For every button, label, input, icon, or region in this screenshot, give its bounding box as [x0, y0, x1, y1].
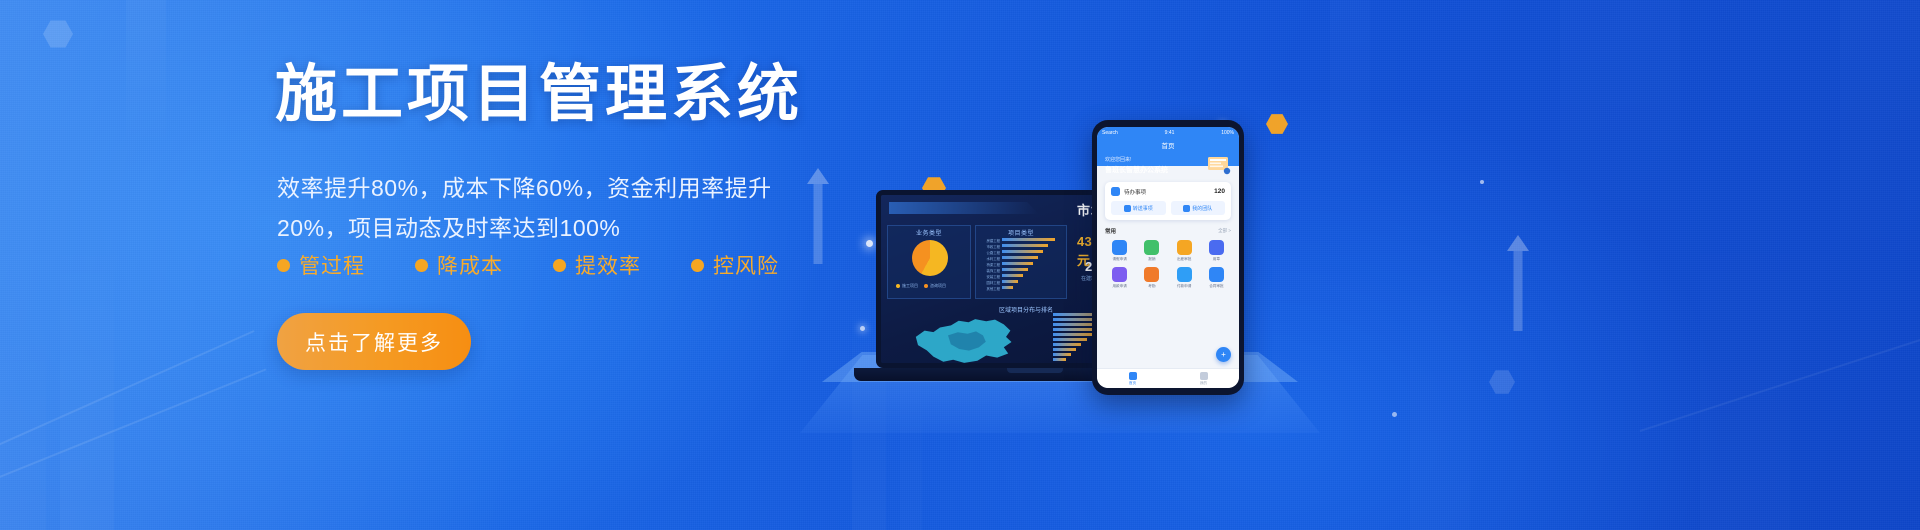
app-label: 报销	[1137, 257, 1166, 262]
app-item-stamp[interactable]: 用章	[1202, 240, 1231, 262]
todo-card-left: 待办事项	[1111, 187, 1146, 196]
phone-tab-bar: 首页 我的	[1097, 368, 1239, 388]
quick-button-group: 转送事项 我的团队	[1111, 201, 1225, 215]
todo-card-label: 待办事项	[1124, 188, 1146, 196]
app-grid-row1: 请假申请 报销 出差审批 用章	[1105, 240, 1231, 262]
plane-icon	[1177, 240, 1192, 255]
my-team-button[interactable]: 我的团队	[1171, 201, 1226, 215]
feature-bullet-label: 提效率	[575, 250, 641, 280]
decor-bar	[60, 230, 114, 530]
phone-mockup: Search 9:41 100% 首页 欢迎您回来! 鲁班长智慧办公系统	[1092, 120, 1244, 395]
plus-icon[interactable]: +	[1216, 347, 1231, 362]
document-icon	[1112, 267, 1127, 282]
quick-button-label: 我的团队	[1192, 205, 1212, 212]
todo-card-count: 120	[1214, 188, 1225, 195]
app-item-travel[interactable]: 出差审批	[1170, 240, 1199, 262]
phone-hero: 欢迎您回来! 鲁班长智慧办公系统	[1097, 151, 1239, 175]
card-icon	[1177, 267, 1192, 282]
promo-banner: 施工项目管理系统 效率提升80%，成本下降60%，资金利用率提升20%，项目动态…	[0, 0, 1920, 530]
phone-nav-title: 首页	[1162, 140, 1175, 150]
app-item-leave[interactable]: 请假申请	[1105, 240, 1134, 262]
phone-screen: Search 9:41 100% 首页 欢迎您回来! 鲁班长智慧办公系统	[1097, 127, 1239, 388]
feature-bullet-label: 管过程	[299, 250, 365, 280]
app-label: 考勤	[1137, 284, 1166, 289]
tab-mine[interactable]: 我的	[1200, 372, 1208, 386]
bullet-dot-icon	[691, 259, 704, 272]
wallet-icon	[1144, 240, 1159, 255]
todo-card[interactable]: 待办事项 120 转送事项 我的团队	[1105, 182, 1231, 220]
feature-bullet: 管过程	[277, 250, 365, 280]
legend-item: 施工项目	[896, 283, 918, 289]
decor-bar	[1410, 230, 1470, 530]
feature-bullet: 提效率	[553, 250, 641, 280]
status-time: 9:41	[1165, 130, 1175, 136]
feature-bullet: 控风险	[691, 250, 779, 280]
arrow-up-icon	[1506, 235, 1530, 331]
bar-chart: 房建工程 市政工程 公路工程 水利工程 桥梁工程 装饰工程 安装工程 园林工程 …	[1002, 238, 1060, 296]
section-more-link[interactable]: 全部 >	[1218, 228, 1231, 234]
contract-icon	[1209, 267, 1224, 282]
tab-label: 首页	[1129, 381, 1137, 386]
app-label: 用章	[1202, 257, 1231, 262]
feature-bullet: 降成本	[415, 250, 503, 280]
tab-home[interactable]: 首页	[1129, 372, 1137, 386]
decor-bar	[126, 0, 166, 150]
banner-subtitle: 效率提升80%，成本下降60%，资金利用率提升20%，项目动态及时率达到100%	[277, 168, 807, 248]
stamp-icon	[1209, 240, 1224, 255]
bullet-dot-icon	[415, 259, 428, 272]
app-item-attendance[interactable]: 考勤	[1137, 267, 1166, 289]
todo-card-row: 待办事项 120	[1111, 187, 1225, 196]
app-item-reimburse[interactable]: 报销	[1137, 240, 1166, 262]
forward-items-button[interactable]: 转送事项	[1111, 201, 1166, 215]
feature-bullet-label: 控风险	[713, 250, 779, 280]
user-icon	[1200, 372, 1208, 380]
pie-panel-title: 业务类型	[888, 228, 970, 237]
clipboard-icon	[1111, 187, 1120, 196]
tab-label: 我的	[1200, 381, 1208, 386]
dashboard-header-accent	[889, 202, 1039, 214]
hero-illustration-icon	[1206, 155, 1232, 175]
bar-chart-panel: 项目类型 房建工程 市政工程 公路工程 水利工程 桥梁工程 装饰工程 安装工程 …	[975, 225, 1067, 299]
app-label: 付款申请	[1170, 284, 1199, 289]
phone-nav-bar: 首页	[1097, 138, 1239, 151]
app-item-payment[interactable]: 付款申请	[1170, 267, 1199, 289]
app-label: 合同审批	[1202, 284, 1231, 289]
feature-bullet-list: 管过程 降成本 提效率 控风险	[277, 250, 779, 280]
status-battery: 100%	[1221, 130, 1234, 136]
page-title: 施工项目管理系统	[275, 60, 803, 130]
app-label: 请假申请	[1105, 257, 1134, 262]
legend-item: 咨询项目	[924, 283, 946, 289]
app-item-fund[interactable]: 用款申请	[1105, 267, 1134, 289]
bullet-dot-icon	[277, 259, 290, 272]
common-apps-header: 常用 全部 >	[1105, 227, 1231, 235]
app-label: 出差审批	[1170, 257, 1199, 262]
team-icon	[1183, 205, 1190, 212]
bar-panel-title: 项目类型	[976, 228, 1066, 237]
learn-more-button[interactable]: 点击了解更多	[277, 313, 471, 370]
decor-bar	[1700, 200, 1790, 530]
decor-bar	[1840, 0, 1920, 300]
quick-button-label: 转送事项	[1133, 205, 1153, 212]
forward-icon	[1124, 205, 1131, 212]
glow-dot	[1392, 412, 1397, 417]
bullet-dot-icon	[553, 259, 566, 272]
glow-dot	[1480, 180, 1484, 184]
pie-chart	[912, 240, 948, 276]
decor-bar	[1560, 0, 1680, 260]
device-mockups: 市场管理报表 业务类型 施工项目 咨询项目 项目类型	[790, 0, 1350, 530]
section-title: 常用	[1105, 227, 1116, 235]
calendar-icon	[1112, 240, 1127, 255]
pie-chart-panel: 业务类型 施工项目 咨询项目	[887, 225, 971, 299]
app-grid-row2: 用款申请 考勤 付款申请 合同审批	[1105, 267, 1231, 289]
laptop-notch	[1007, 368, 1063, 373]
app-item-contract[interactable]: 合同审批	[1202, 267, 1231, 289]
status-signal: Search	[1102, 130, 1118, 136]
home-icon	[1129, 372, 1137, 380]
pie-legend: 施工项目 咨询项目	[896, 283, 946, 289]
clock-icon	[1144, 267, 1159, 282]
phone-status-bar: Search 9:41 100%	[1097, 127, 1239, 138]
app-label: 用款申请	[1105, 284, 1134, 289]
feature-bullet-label: 降成本	[437, 250, 503, 280]
